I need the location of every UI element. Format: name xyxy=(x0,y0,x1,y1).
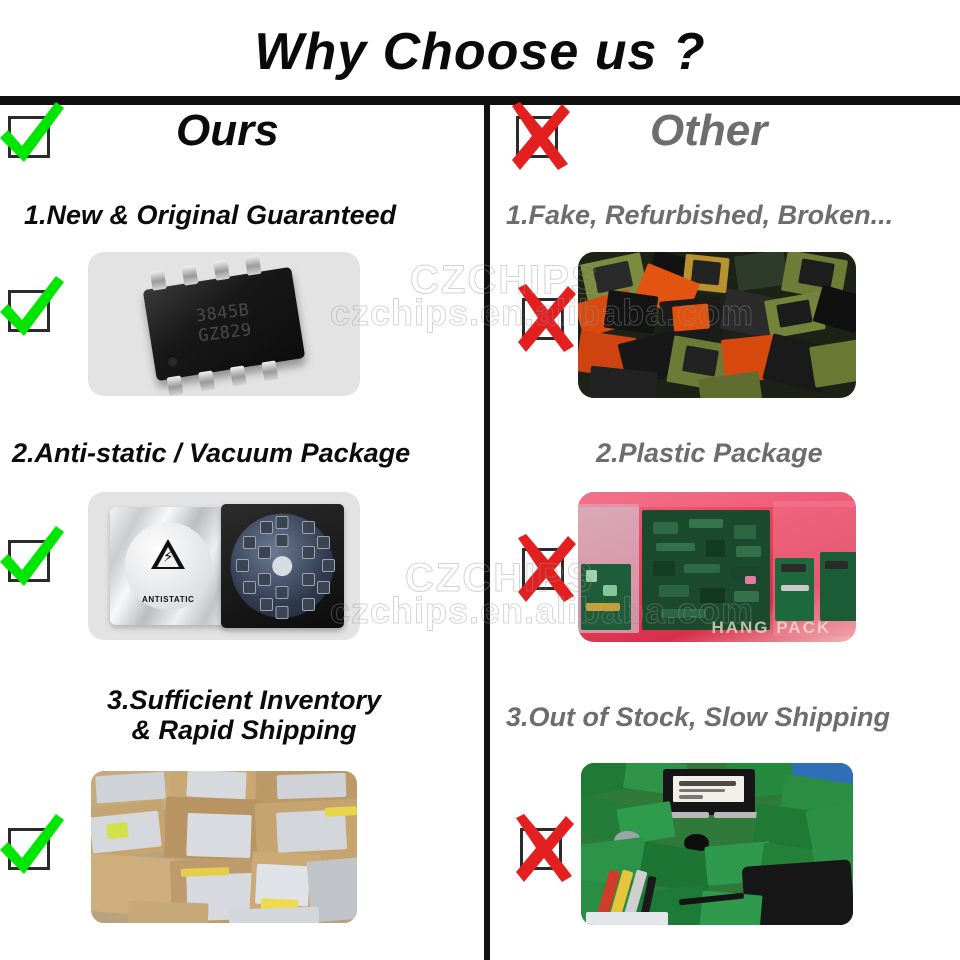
reel-hub xyxy=(273,556,293,576)
row-2-other-photo: HANG PACK xyxy=(578,492,856,642)
chip-pin1-dot xyxy=(166,355,179,368)
component-reel-illustration xyxy=(221,504,343,628)
cross-glyph xyxy=(506,812,582,886)
check-glyph xyxy=(0,524,70,598)
row-3-other-label: 3.Out of Stock, Slow Shipping xyxy=(506,702,956,732)
why-choose-us-infographic: Why Choose us ? Ours Other 1.New & Origi… xyxy=(0,0,960,960)
row-1-other-label: 1.Fake, Refurbished, Broken... xyxy=(506,200,956,230)
row-1-ours-label: 1.New & Original Guaranteed xyxy=(24,200,474,230)
chip-marking-text: 3845B GZ829 xyxy=(195,300,253,346)
ic-chip-illustration: 3845B GZ829 xyxy=(143,267,306,381)
lightning-bolt-icon: ⚡ xyxy=(163,549,174,564)
page-title: Why Choose us ? xyxy=(0,22,960,82)
check-mark-icon-header xyxy=(8,116,50,158)
check-mark-icon-row-3 xyxy=(8,828,50,870)
column-divider-rule xyxy=(484,105,490,960)
photo-watermark-hang-pack: HANG PACK xyxy=(711,618,831,638)
check-glyph xyxy=(0,274,70,348)
row-3-ours-label: 3.Sufficient Inventory & Rapid Shipping xyxy=(24,685,464,745)
check-glyph xyxy=(0,100,70,174)
check-mark-icon-row-1 xyxy=(8,290,50,332)
row-2-other-label: 2.Plastic Package xyxy=(596,438,960,468)
cross-glyph xyxy=(502,100,578,174)
column-label-ours: Ours xyxy=(176,106,279,156)
header-divider-rule xyxy=(0,96,960,105)
cross-glyph xyxy=(508,282,584,356)
cardboard-boxes-mosaic xyxy=(91,771,357,923)
check-glyph xyxy=(0,812,70,886)
antistatic-bag-illustration: ⚡ ANTISTATIC xyxy=(110,507,227,625)
column-header-other: Other xyxy=(490,108,960,170)
column-header-ours: Ours xyxy=(0,108,484,170)
row-2-ours-photo: ⚡ ANTISTATIC xyxy=(88,492,360,640)
row-1-ours-photo: 3845B GZ829 xyxy=(88,252,360,396)
column-label-other: Other xyxy=(650,106,767,156)
chip-body: 3845B GZ829 xyxy=(143,267,306,381)
cross-mark-icon-row-3 xyxy=(520,828,562,870)
cross-mark-icon-header xyxy=(516,116,558,158)
antistatic-caption: ANTISTATIC xyxy=(110,595,227,604)
scrap-chip-pile-mosaic xyxy=(578,252,856,398)
row-2-ours-label: 2.Anti-static / Vacuum Package xyxy=(12,438,482,468)
cross-mark-icon-row-1 xyxy=(522,298,564,340)
row-3-other-photo xyxy=(578,760,856,928)
row-1-other-photo xyxy=(578,252,856,398)
scrap-pcb-pile-mosaic xyxy=(581,763,853,925)
check-mark-icon-row-2 xyxy=(8,540,50,582)
cross-glyph xyxy=(508,532,584,606)
cross-mark-icon-row-2 xyxy=(522,548,564,590)
row-3-ours-photo xyxy=(88,768,360,926)
